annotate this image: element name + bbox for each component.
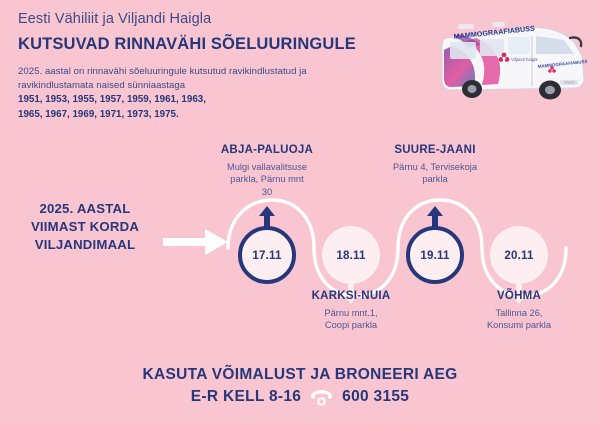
poster-canvas: Eesti Vähiliit ja Viljandi Haigla KUTSUV… xyxy=(0,0,600,424)
stop-address-line-2: Coopi parkla xyxy=(286,319,416,331)
stop-address-line-1: Pärnu mnt.1, xyxy=(286,307,416,319)
footer-block: KASUTA VÕIMALUST JA BRONEERI AEG E-R KEL… xyxy=(0,365,600,406)
body-line-2: ravikindlustamata naised sünniaastaga xyxy=(18,79,418,93)
timeline-node-4[interactable]: 20.11 xyxy=(490,226,548,284)
stop-address: Pärnu 4, Tervisekoja parkla xyxy=(370,161,500,186)
node-date: 17.11 xyxy=(238,226,296,284)
last-time-callout: 2025. AASTAL VIIMAST KORDA VILJANDIMAAL xyxy=(10,200,160,255)
timeline-node-1[interactable]: 17.11 xyxy=(238,226,296,284)
right-arrow-icon xyxy=(163,228,229,256)
node-date: 19.11 xyxy=(406,226,464,284)
birth-years-line-1: 1951, 1953, 1955, 1957, 1959, 1961, 1963… xyxy=(18,93,438,107)
organisation-line: Eesti Vähiliit ja Viljandi Haigla xyxy=(18,10,438,30)
stop-name: SUURE-JAANI xyxy=(370,144,500,158)
node-date: 20.11 xyxy=(490,226,548,284)
telephone-icon xyxy=(310,389,333,406)
opening-hours: E-R KELL 8-16 xyxy=(191,388,301,406)
timeline-node-2[interactable]: 18.11 xyxy=(322,226,380,284)
stop-address-line-2: parkla, Pärnu mnt xyxy=(202,173,332,185)
stop-name: ABJA-PALUOJA xyxy=(202,144,332,158)
callout-line-3: VILJANDIMAAL xyxy=(10,236,160,254)
timeline-node-3[interactable]: 19.11 xyxy=(406,226,464,284)
arrow-up-icon xyxy=(427,206,443,228)
stop-label-suure-jaani: SUURE-JAANI Pärnu 4, Tervisekoja parkla xyxy=(370,144,500,186)
svg-text:Viljandi haigla: Viljandi haigla xyxy=(511,57,538,62)
callout-line-2: VIIMAST KORDA xyxy=(10,218,160,236)
stop-label-abja-paluoja: ABJA-PALUOJA Mulgi vallavalitsuse parkla… xyxy=(202,144,332,198)
stop-name: KARKSI-NUIA xyxy=(286,290,416,304)
header-body: 2025. aastal on rinnavähi sõeluuringule … xyxy=(18,65,418,92)
stop-label-vohma: VÕHMA Tallinna 26, Konsumi parkla xyxy=(454,290,584,332)
stop-name: VÕHMA xyxy=(454,290,584,304)
birth-years-line-2: 1965, 1967, 1969, 1971, 1973, 1975. xyxy=(18,108,438,122)
birth-years: 1951, 1953, 1955, 1957, 1959, 1961, 1963… xyxy=(18,93,438,121)
stop-address-line-2: parkla xyxy=(370,173,500,185)
arrow-up-icon xyxy=(259,206,275,228)
mammography-bus-photo: MAMMOGRAAFIABUSS MAMMOGRAAFIABUSS Viljan… xyxy=(432,12,592,104)
phone-number: 600 3155 xyxy=(342,388,409,406)
stop-address-line-1: Mulgi vallavalitsuse xyxy=(202,161,332,173)
footer-contact-row: E-R KELL 8-16 600 3155 xyxy=(0,388,600,406)
stop-address-line-3: 30 xyxy=(202,186,332,198)
callout-line-1: 2025. AASTAL xyxy=(10,200,160,218)
stop-address-line-2: Konsumi parkla xyxy=(454,319,584,331)
body-line-1: 2025. aastal on rinnavähi sõeluuringule … xyxy=(18,65,418,79)
stop-address: Mulgi vallavalitsuse parkla, Pärnu mnt 3… xyxy=(202,161,332,198)
stop-address-line-1: Tallinna 26, xyxy=(454,307,584,319)
node-date: 18.11 xyxy=(322,226,380,284)
stop-address-line-1: Pärnu 4, Tervisekoja xyxy=(370,161,500,173)
page-title: KUTSUVAD RINNAVÄHI SÕELUURINGULE xyxy=(18,34,438,55)
stop-label-karksi-nuia: KARKSI-NUIA Pärnu mnt.1, Coopi parkla xyxy=(286,290,416,332)
header-block: Eesti Vähiliit ja Viljandi Haigla KUTSUV… xyxy=(18,10,438,122)
footer-cta: KASUTA VÕIMALUST JA BRONEERI AEG xyxy=(0,365,600,385)
tour-timeline: 17.11 18.11 19.11 xyxy=(222,130,594,370)
stop-address: Pärnu mnt.1, Coopi parkla xyxy=(286,307,416,332)
stop-address: Tallinna 26, Konsumi parkla xyxy=(454,307,584,332)
